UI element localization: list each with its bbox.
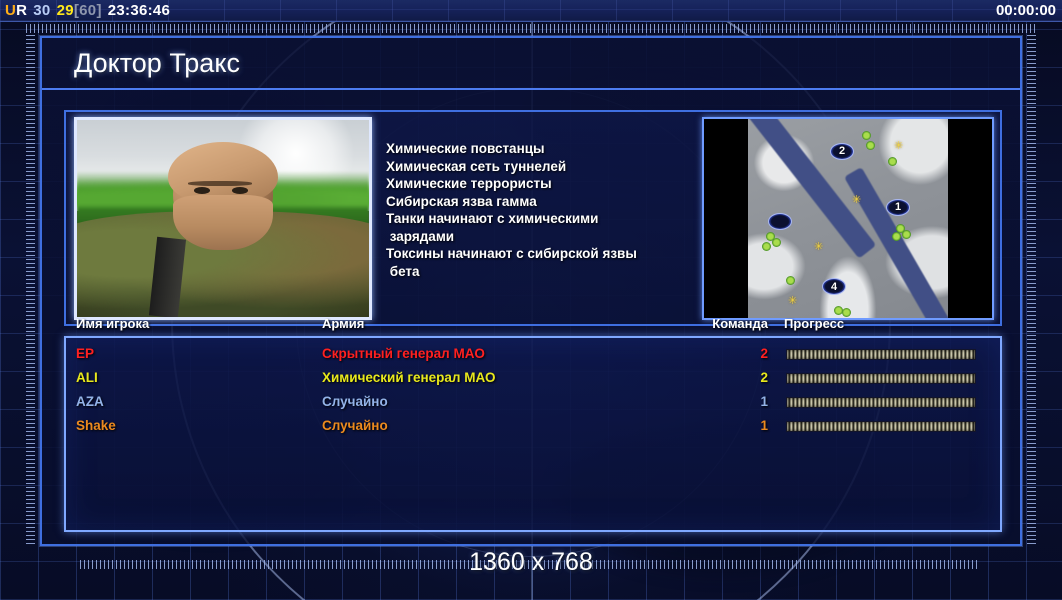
map-supply-star-icon: ✳: [894, 141, 904, 151]
status-prefix: UR: [5, 2, 27, 19]
map-tree-icon: [866, 141, 875, 150]
player-army: Случайно: [322, 394, 388, 409]
description-line: Сибирская язва гамма: [386, 193, 746, 211]
status-bar-left: UR 30 29[60] 23:36:46: [0, 2, 170, 19]
player-team: 2: [696, 370, 768, 385]
status-right-clock: 00:00:00: [996, 2, 1062, 19]
header-army: Армия: [322, 316, 364, 331]
table-row[interactable]: EPСкрытный генерал МАО2: [66, 344, 1000, 368]
player-name: EP: [76, 346, 94, 361]
map-tree-icon: [762, 242, 771, 251]
player-team: 1: [696, 418, 768, 433]
table-row[interactable]: ShakeСлучайно1: [66, 416, 1000, 440]
status-bar: UR 30 29[60] 23:36:46 00:00:00: [0, 0, 1062, 22]
map-tree-icon: [786, 276, 795, 285]
window-title-bar: Доктор Тракс: [42, 38, 1020, 90]
map-spawn-point[interactable]: 4: [822, 278, 846, 295]
player-table-header: Имя игрока Армия Команда Прогресс: [66, 316, 1000, 338]
table-row[interactable]: ALIХимический генерал МАО2: [66, 368, 1000, 392]
map-tree-icon: [772, 238, 781, 247]
army-description-list: Химические повстанцыХимическая сеть тунн…: [386, 140, 746, 280]
player-progress-bar: [786, 373, 976, 384]
map-preview-image: ✳✳✳✳214: [748, 119, 948, 318]
description-line: зарядами: [386, 228, 746, 246]
map-spawn-point[interactable]: 2: [830, 143, 854, 160]
map-supply-star-icon: ✳: [852, 195, 862, 205]
portrait-eye-right: [232, 187, 248, 194]
map-preview-frame: ✳✳✳✳214: [702, 117, 994, 320]
general-portrait: [74, 117, 372, 320]
window-content: Химические повстанцыХимическая сеть тунн…: [42, 92, 1020, 548]
player-army: Скрытный генерал МАО: [322, 346, 485, 361]
header-team: Команда: [696, 316, 768, 331]
player-team: 1: [696, 394, 768, 409]
player-name: AZA: [76, 394, 104, 409]
description-line: Химические террористы: [386, 175, 746, 193]
map-tree-icon: [862, 131, 871, 140]
player-progress-bar: [786, 397, 976, 408]
ruler-top: [26, 24, 1036, 33]
resolution-label: 1360 x 768: [0, 548, 1062, 577]
ruler-right: [1027, 34, 1036, 544]
player-name: ALI: [76, 370, 98, 385]
portrait-eye-left: [194, 187, 210, 194]
player-progress-bar: [786, 349, 976, 360]
status-prefix-u: U: [5, 2, 16, 19]
map-spawn-point[interactable]: [768, 213, 792, 230]
info-panel: Химические повстанцыХимическая сеть тунн…: [64, 110, 1002, 326]
player-list-panel: Имя игрока Армия Команда Прогресс EPСкры…: [64, 336, 1002, 532]
status-fps-group: 29[60]: [57, 2, 102, 19]
status-value-1: 30: [33, 2, 50, 19]
portrait-brow: [188, 181, 252, 186]
page-title: Доктор Тракс: [42, 48, 240, 79]
map-supply-star-icon: ✳: [814, 242, 824, 252]
player-name: Shake: [76, 418, 116, 433]
status-value-2: 29: [57, 2, 74, 19]
player-army: Химический генерал МАО: [322, 370, 496, 385]
description-line: бета: [386, 263, 746, 281]
description-line: Токсины начинают с сибирской язвы: [386, 245, 746, 263]
header-player-name: Имя игрока: [76, 316, 149, 331]
map-tree-icon: [902, 230, 911, 239]
player-team: 2: [696, 346, 768, 361]
map-supply-star-icon: ✳: [788, 296, 798, 306]
description-line: Химические повстанцы: [386, 140, 746, 158]
table-row[interactable]: AZAСлучайно1: [66, 392, 1000, 416]
map-tree-icon: [888, 157, 897, 166]
status-bracket-value: [60]: [74, 2, 102, 19]
description-line: Танки начинают с химическими: [386, 210, 746, 228]
status-clock: 23:36:46: [108, 2, 170, 19]
player-army: Случайно: [322, 418, 388, 433]
ruler-left: [26, 34, 35, 544]
player-progress-bar: [786, 421, 976, 432]
description-line: Химическая сеть туннелей: [386, 158, 746, 176]
header-progress: Прогресс: [784, 316, 844, 331]
map-spawn-point[interactable]: 1: [886, 199, 910, 216]
main-window: Доктор Тракс Химические повстанцыХимичес…: [40, 36, 1022, 546]
status-prefix-r: R: [16, 2, 27, 19]
